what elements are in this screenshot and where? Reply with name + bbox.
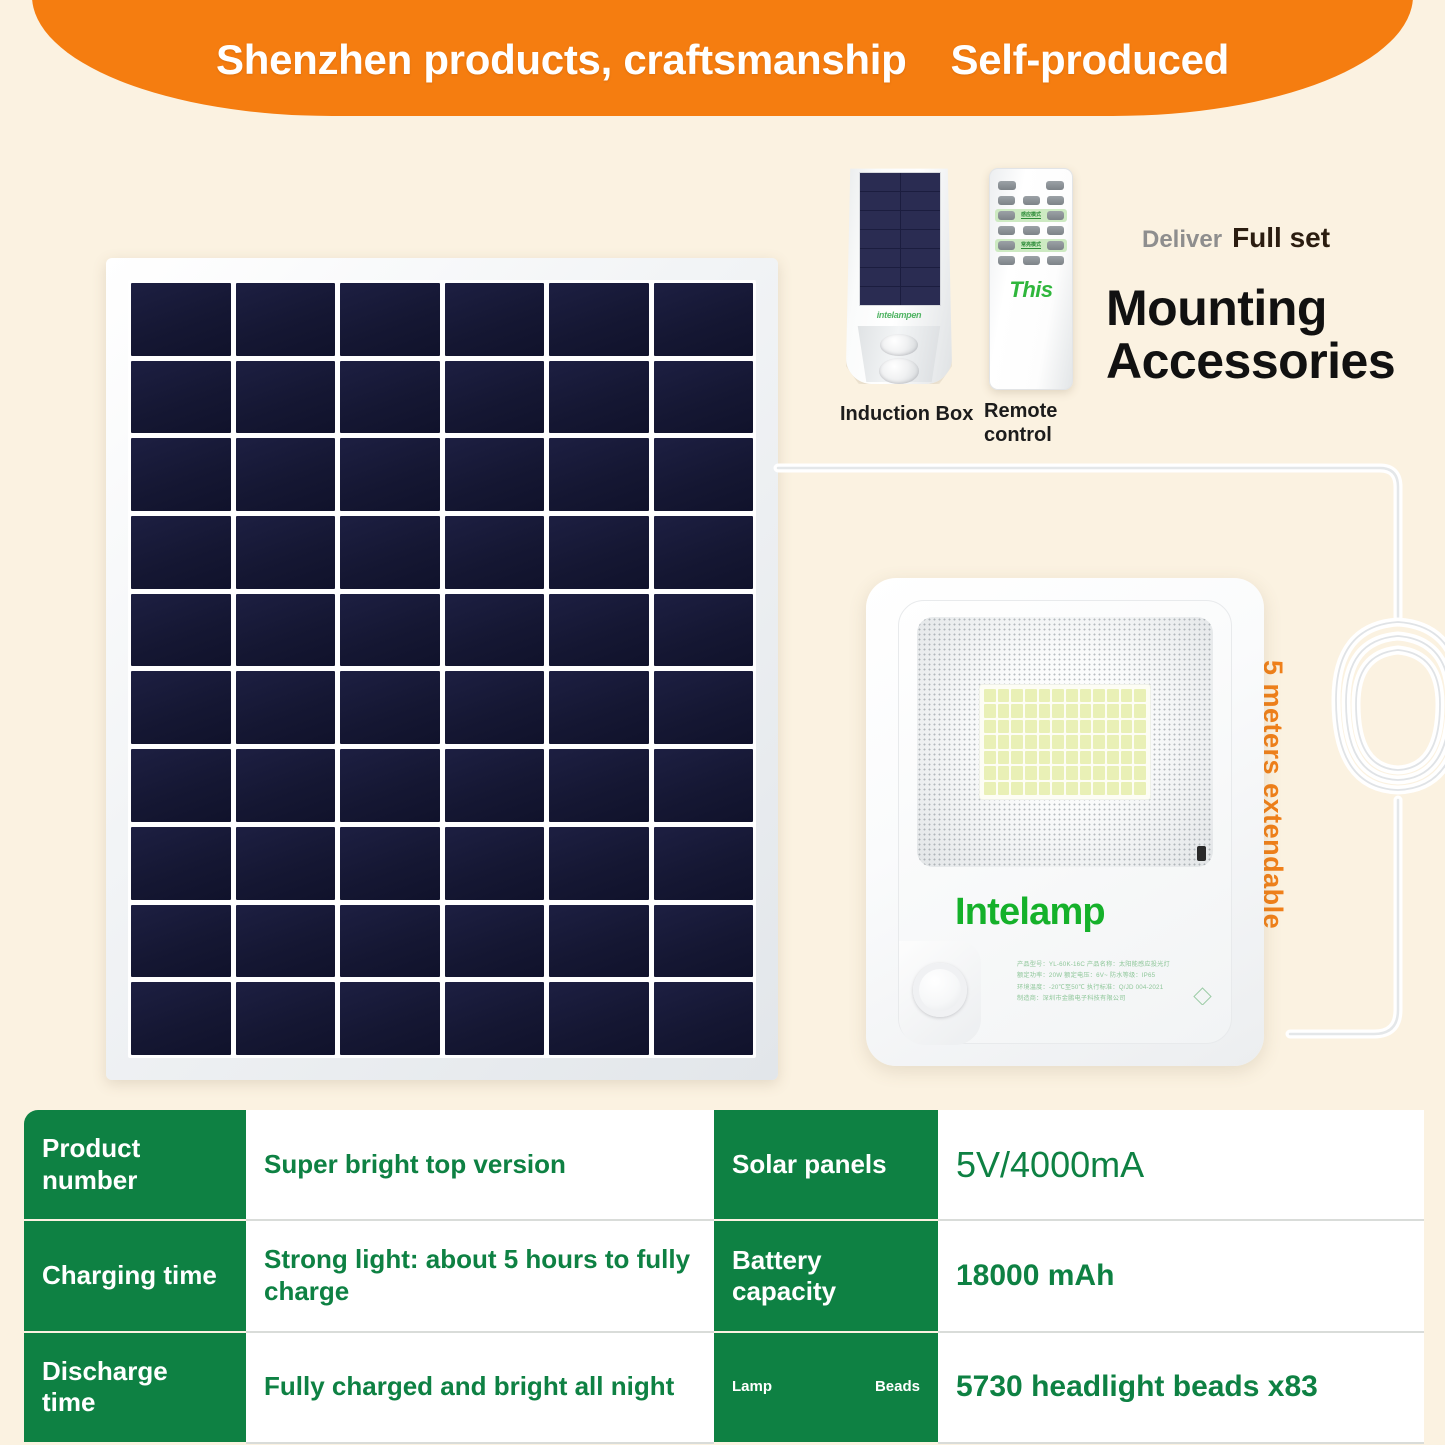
led-chip	[998, 735, 1010, 748]
solar-cell	[445, 594, 545, 667]
led-chip	[998, 782, 1010, 795]
flood-lamp-image: Intelamp 产品型号：YL-60K-16C 产品名称：太阳能感应投光灯 额…	[866, 578, 1264, 1066]
led-chip	[1039, 735, 1051, 748]
solar-cell	[654, 827, 754, 900]
led-chip	[1080, 735, 1092, 748]
led-chip	[1066, 735, 1078, 748]
solar-cell	[445, 283, 545, 356]
solar-cell	[549, 671, 649, 744]
led-chip	[1121, 751, 1133, 764]
solar-cell	[549, 827, 649, 900]
spec-row-label-split: Lamp Beads	[714, 1333, 938, 1444]
remote-button	[1046, 181, 1064, 190]
led-chip	[1052, 689, 1064, 702]
led-chip	[1066, 766, 1078, 779]
mounting-headline-line1: Mounting	[1106, 282, 1395, 335]
induction-box-solar-cell	[901, 173, 941, 191]
solar-cell	[549, 905, 649, 978]
led-chip	[998, 689, 1010, 702]
solar-cell	[445, 671, 545, 744]
induction-box-solar-cell	[860, 192, 900, 210]
solar-cell	[340, 905, 440, 978]
remote-button-row-4	[998, 226, 1064, 235]
remote-button-row-1	[998, 181, 1064, 190]
light-sensor-icon	[1197, 846, 1206, 861]
induction-box-solar-cell	[860, 268, 900, 286]
solar-cell	[236, 283, 336, 356]
solar-cell	[445, 982, 545, 1055]
induction-box-solar-cell	[860, 211, 900, 229]
remote-mid-label: 感应模式	[1021, 213, 1041, 219]
solar-cell	[131, 594, 231, 667]
led-chip	[1093, 704, 1105, 717]
led-chip	[1121, 766, 1133, 779]
led-chip	[984, 704, 996, 717]
solar-cell	[445, 438, 545, 511]
led-chip	[1025, 735, 1037, 748]
led-chip	[1039, 689, 1051, 702]
solar-cell	[549, 594, 649, 667]
lamp-spec-label: 产品型号：YL-60K-16C 产品名称：太阳能感应投光灯 额定功率：20W 额…	[1017, 959, 1213, 1005]
solar-cell	[549, 283, 649, 356]
led-chip	[1039, 751, 1051, 764]
remote-button	[998, 241, 1015, 250]
led-chip	[1066, 704, 1078, 717]
remote-button	[1047, 256, 1064, 265]
spec-row-value: 5V/4000mA	[938, 1110, 1424, 1221]
remote-button	[1023, 226, 1040, 235]
solar-cell	[340, 671, 440, 744]
induction-box-caption: Induction Box	[840, 403, 980, 427]
led-chip	[1107, 689, 1119, 702]
led-chip	[1052, 735, 1064, 748]
solar-cell	[340, 982, 440, 1055]
solar-cell	[236, 749, 336, 822]
led-chip	[1080, 751, 1092, 764]
spec-row-label: Battery capacity	[714, 1221, 938, 1332]
led-chip	[1066, 782, 1078, 795]
led-chip	[1025, 720, 1037, 733]
led-chip	[1107, 735, 1119, 748]
led-chip	[1052, 704, 1064, 717]
led-chip	[1093, 720, 1105, 733]
led-chip	[1039, 720, 1051, 733]
solar-cell	[654, 594, 754, 667]
header-banner: Shenzhen products, craftsmanship Self-pr…	[32, 0, 1413, 116]
induction-box-solar-cell	[860, 173, 900, 191]
remote-button-row-2	[998, 196, 1064, 205]
remote-button	[998, 226, 1015, 235]
lamp-brand-logo: Intelamp	[955, 891, 1105, 934]
led-chip	[1039, 766, 1051, 779]
remote-button-row-3: 感应模式	[998, 211, 1064, 220]
flood-lamp-shell: Intelamp 产品型号：YL-60K-16C 产品名称：太阳能感应投光灯 额…	[898, 600, 1232, 1044]
lamp-spec-line: 环境温度：-20℃至50℃ 执行标准：Q/JD 004-2021	[1017, 982, 1213, 993]
remote-button	[998, 181, 1016, 190]
induction-box-logo: intelampen	[846, 310, 952, 320]
spec-table-right: Solar panels 5V/4000mA Battery capacity …	[714, 1110, 1424, 1444]
solar-cell	[131, 749, 231, 822]
mounting-accessories-headline: Mounting Accessories	[1106, 282, 1395, 388]
solar-cell	[236, 594, 336, 667]
led-chip	[1025, 782, 1037, 795]
solar-cell	[445, 827, 545, 900]
solar-cell	[445, 516, 545, 589]
solar-cell	[131, 283, 231, 356]
remote-button	[1047, 241, 1064, 250]
solar-cell	[654, 671, 754, 744]
solar-cell	[549, 361, 649, 434]
solar-cell	[236, 827, 336, 900]
led-chip	[984, 782, 996, 795]
spec-row-value: Strong light: about 5 hours to fully cha…	[246, 1221, 714, 1332]
led-chip	[984, 766, 996, 779]
spec-row-label: Solar panels	[714, 1110, 938, 1221]
induction-box-mini-solar-panel	[859, 172, 941, 306]
induction-box-solar-cell	[901, 192, 941, 210]
mounting-headline-line2: Accessories	[1106, 335, 1395, 388]
led-chip	[1121, 704, 1133, 717]
led-chip	[1134, 751, 1146, 764]
led-chip	[1134, 704, 1146, 717]
banner-headline-right: Self-produced	[951, 36, 1229, 84]
led-chip	[1025, 751, 1037, 764]
remote-button	[998, 211, 1015, 220]
solar-cell	[654, 749, 754, 822]
spec-row-value: 18000 mAh	[938, 1221, 1424, 1332]
solar-cell	[654, 982, 754, 1055]
led-chip	[1107, 782, 1119, 795]
led-chip	[1025, 689, 1037, 702]
pir-sensor-dome	[913, 963, 967, 1017]
lamp-spec-line: 制造商：深圳市金鹏电子科技有限公司	[1017, 993, 1213, 1004]
led-chip	[998, 704, 1010, 717]
solar-cell	[131, 438, 231, 511]
spec-row-label: Discharge time	[24, 1333, 246, 1444]
induction-box-solar-cell	[901, 287, 941, 305]
led-chip	[1080, 704, 1092, 717]
remote-button	[1047, 226, 1064, 235]
led-chip	[1052, 766, 1064, 779]
led-chip	[1025, 766, 1037, 779]
remote-control-caption: Remote control	[984, 400, 1104, 447]
led-chip	[1011, 689, 1023, 702]
solar-cell	[445, 749, 545, 822]
solar-cell	[549, 438, 649, 511]
led-chip	[1134, 689, 1146, 702]
full-set-label: Full set	[1232, 222, 1330, 254]
led-chip	[1107, 751, 1119, 764]
remote-mid-label: 常亮模式	[1021, 243, 1041, 249]
solar-cell	[340, 594, 440, 667]
solar-panel-image	[106, 258, 778, 1080]
header-banner-text-group: Shenzhen products, craftsmanship Self-pr…	[216, 36, 1229, 84]
deliver-label: Deliver	[1142, 226, 1222, 254]
remote-button-row-5: 常亮模式	[998, 241, 1064, 250]
induction-box-solar-cell	[901, 268, 941, 286]
induction-box-sensor-dome-upper	[880, 334, 918, 356]
led-chip	[1011, 720, 1023, 733]
led-chip	[1025, 704, 1037, 717]
led-chip	[1093, 751, 1105, 764]
remote-button	[998, 196, 1015, 205]
remote-button	[998, 256, 1015, 265]
remote-button	[1023, 196, 1040, 205]
led-chip-array	[979, 684, 1151, 800]
led-chip	[1066, 689, 1078, 702]
induction-box-solar-cell	[860, 249, 900, 267]
solar-cell	[340, 361, 440, 434]
spec-table-left: Product number Super bright top version …	[24, 1110, 714, 1444]
remote-button	[1023, 256, 1040, 265]
led-chip	[998, 751, 1010, 764]
led-chip	[1011, 751, 1023, 764]
led-chip	[1052, 782, 1064, 795]
led-chip	[1093, 782, 1105, 795]
led-chip	[1080, 782, 1092, 795]
solar-cell	[131, 827, 231, 900]
spec-row-label-right: Beads	[875, 1378, 920, 1396]
led-chip	[1093, 766, 1105, 779]
solar-cell	[131, 361, 231, 434]
spec-row-label-left: Lamp	[732, 1378, 772, 1396]
led-chip	[1107, 704, 1119, 717]
spec-row-value: Fully charged and bright all night	[246, 1333, 714, 1444]
solar-cell	[236, 671, 336, 744]
solar-cell	[236, 905, 336, 978]
led-chip	[998, 766, 1010, 779]
solar-cell	[340, 749, 440, 822]
led-chip	[1080, 689, 1092, 702]
induction-box-solar-cell	[860, 287, 900, 305]
led-chip	[1093, 735, 1105, 748]
led-chip	[1134, 720, 1146, 733]
solar-cell	[549, 982, 649, 1055]
led-chip	[1107, 720, 1119, 733]
led-chip	[998, 720, 1010, 733]
flood-lamp-reflector	[917, 617, 1213, 867]
induction-box-solar-cell	[860, 230, 900, 248]
solar-cell	[549, 749, 649, 822]
solar-cell	[445, 361, 545, 434]
led-chip	[1011, 735, 1023, 748]
remote-button	[1047, 196, 1064, 205]
induction-box-solar-cell	[901, 230, 941, 248]
led-chip	[1093, 689, 1105, 702]
led-chip	[1107, 766, 1119, 779]
solar-cell	[654, 905, 754, 978]
induction-box-image: intelampen	[846, 162, 952, 384]
solar-cell	[445, 905, 545, 978]
led-chip	[984, 751, 996, 764]
spec-row-value: Super bright top version	[246, 1110, 714, 1221]
remote-button	[1047, 211, 1064, 220]
solar-cell	[654, 361, 754, 434]
solar-cell	[236, 516, 336, 589]
remote-button-row-6	[998, 256, 1064, 265]
led-chip	[1134, 782, 1146, 795]
induction-box-sensor-dome-lower	[879, 358, 919, 384]
solar-cell	[340, 438, 440, 511]
product-marketing-image: Shenzhen products, craftsmanship Self-pr…	[0, 0, 1445, 1445]
solar-cell	[131, 905, 231, 978]
led-chip	[984, 735, 996, 748]
led-chip	[1121, 735, 1133, 748]
solar-cell	[549, 516, 649, 589]
solar-panel-frame	[128, 280, 756, 1058]
led-chip	[1052, 720, 1064, 733]
solar-cell	[340, 283, 440, 356]
led-chip	[984, 689, 996, 702]
led-chip	[984, 720, 996, 733]
solar-cell-grid	[131, 283, 753, 1055]
led-chip	[1039, 782, 1051, 795]
spec-row-label: Product number	[24, 1110, 246, 1221]
lamp-spec-line: 额定功率：20W 额定电压：6V~ 防水等级：IP65	[1017, 970, 1213, 981]
remote-this-label: This	[998, 277, 1064, 303]
spec-row-label: Charging time	[24, 1221, 246, 1332]
solar-cell	[236, 438, 336, 511]
led-chip	[1066, 751, 1078, 764]
solar-cell	[654, 283, 754, 356]
led-chip	[1039, 704, 1051, 717]
remote-control-image: 感应模式 常亮模式 This	[989, 168, 1073, 390]
solar-cell	[654, 516, 754, 589]
led-chip	[1080, 766, 1092, 779]
led-chip	[1134, 735, 1146, 748]
led-chip	[1121, 782, 1133, 795]
banner-headline-left: Shenzhen products, craftsmanship	[216, 36, 907, 84]
solar-cell	[236, 361, 336, 434]
led-chip	[1080, 720, 1092, 733]
solar-cell	[131, 671, 231, 744]
solar-cell	[131, 516, 231, 589]
solar-cell	[236, 982, 336, 1055]
led-chip	[1066, 720, 1078, 733]
spec-row-value: 5730 headlight beads x83	[938, 1333, 1424, 1444]
solar-cell	[131, 982, 231, 1055]
induction-box-solar-cell	[901, 249, 941, 267]
led-chip	[1011, 782, 1023, 795]
led-chip	[1011, 766, 1023, 779]
led-chip	[1121, 689, 1133, 702]
solar-cell	[340, 516, 440, 589]
solar-cell	[654, 438, 754, 511]
led-chip	[1052, 751, 1064, 764]
induction-box-solar-cell	[901, 211, 941, 229]
led-chip	[1134, 766, 1146, 779]
solar-cell	[340, 827, 440, 900]
deliver-headline: Deliver Full set	[1142, 222, 1330, 254]
led-chip	[1011, 704, 1023, 717]
led-chip	[1121, 720, 1133, 733]
lamp-spec-line: 产品型号：YL-60K-16C 产品名称：太阳能感应投光灯	[1017, 959, 1213, 970]
